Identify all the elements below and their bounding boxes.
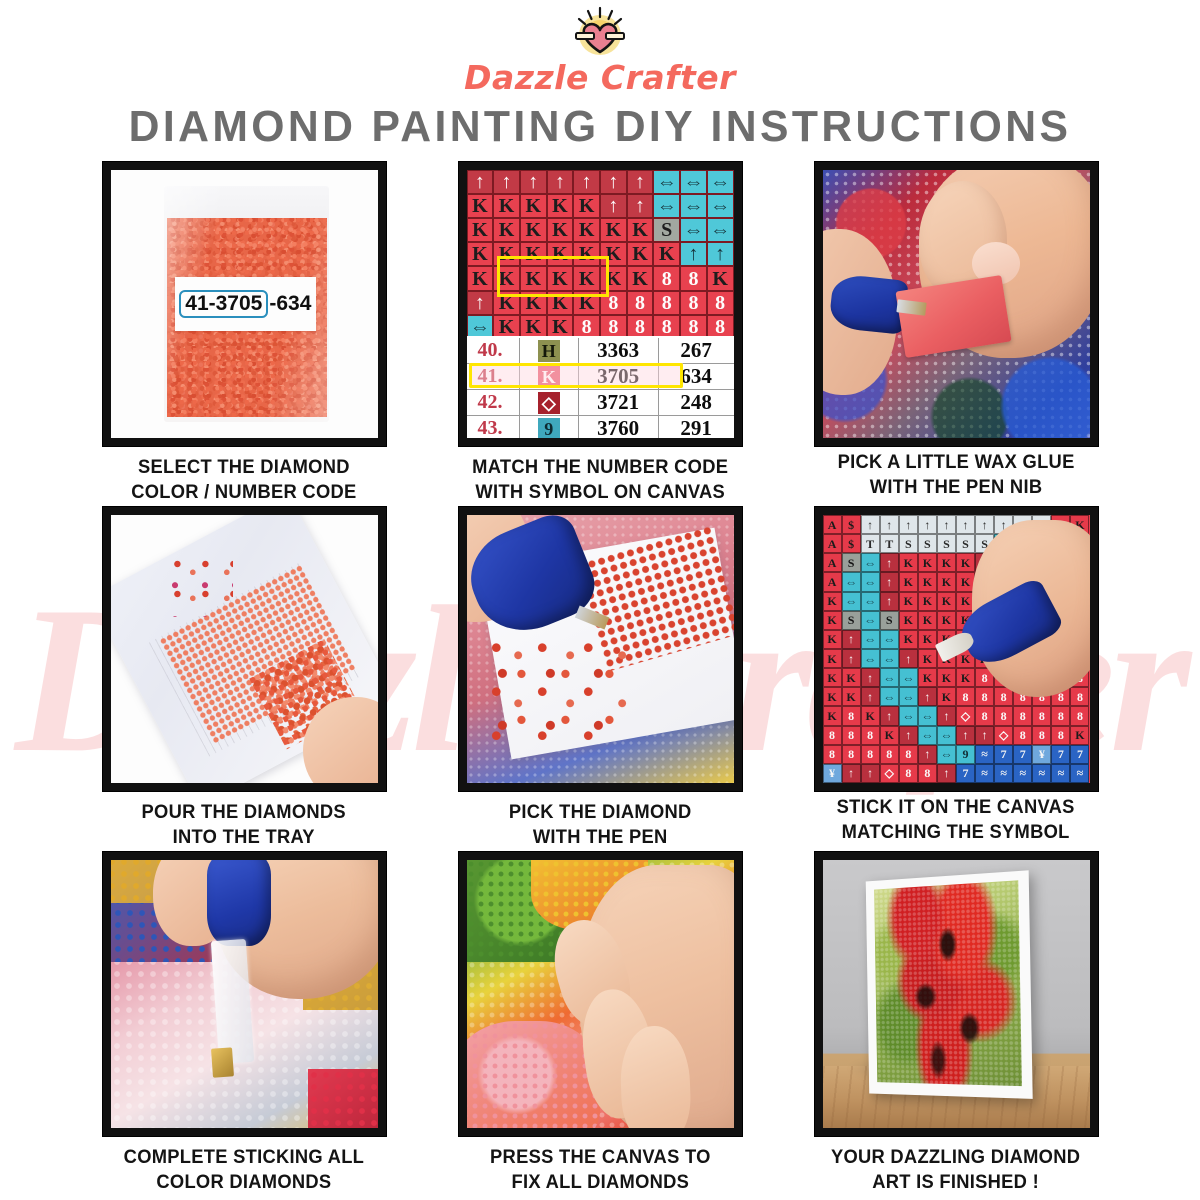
canvas-cell: ⇔ [918,706,937,725]
chart-cell: ↑ [627,170,654,194]
legend-number: 43. [467,416,520,438]
chart-cell: K [573,242,600,266]
legend-number: 42. [467,390,520,415]
chart-cell: K [520,194,547,218]
canvas-cell: 8 [975,687,994,706]
chart-cell: ↑ [520,170,547,194]
canvas-cell: 8 [1032,726,1051,745]
chart-cell: K [493,291,520,315]
canvas-cell: 8 [842,726,861,745]
canvas-cell: K [823,687,842,706]
canvas-cell: ⇔ [880,630,899,649]
canvas-cell: S [880,611,899,630]
step-card-2: ↑↑↑↑↑↑↑⇔⇔⇔KKKKK↑↑⇔⇔⇔KKKKKKKS⇔⇔KKKKKKKK↑↑… [422,162,778,507]
legend-number: 40. [467,338,520,363]
chart-cell: ↑ [600,194,627,218]
legend-symbol: K [538,366,560,388]
canvas-cell: 8 [842,745,861,764]
step-image-frame-4 [103,507,386,791]
canvas-cell: K [937,592,956,611]
canvas-cell: K [842,687,861,706]
canvas-cell: K [918,611,937,630]
chart-cell: ↑ [680,242,707,266]
canvas-cell: ↑ [937,764,956,783]
step-image-frame-6: A$↑↑↑↑↑↑↑↑↑↑KKA$TTSSSSS⇔⇔S⇔SAS⇔↑KKKK↑⇔⇔⇔… [815,507,1098,791]
canvas-cell: K [918,630,937,649]
canvas-cell: ↑ [861,515,880,534]
caption-line-2: COLOR DIAMONDS [124,1170,364,1195]
legend-count: 248 [659,390,734,415]
legend-count: 634 [659,364,734,389]
chart-cell: K [467,242,494,266]
step-card-3: PICK A LITTLE WAX GLUE WITH THE PEN NIB [778,162,1134,507]
step-caption-1: SELECT THE DIAMOND COLOR / NUMBER CODE [131,455,356,505]
legend-row: 41. K 3705 634 [467,364,734,390]
chart-cell: ↑ [573,170,600,194]
legend-symbol-cell: K [520,364,579,389]
chart-cell: K [573,291,600,315]
chart-cell: K [573,218,600,242]
chart-cell: 8 [707,291,734,315]
canvas-cell: ≈ [994,764,1013,783]
caption-line-2: ART IS FINISHED ! [831,1170,1080,1195]
canvas-cell: 8 [956,687,975,706]
step-card-5: PICK THE DIAMOND WITH THE PEN [422,507,778,852]
canvas-cell: K [899,592,918,611]
canvas-cell: K [918,553,937,572]
chart-cell: K [520,266,547,290]
step-image-frame-2: ↑↑↑↑↑↑↑⇔⇔⇔KKKKK↑↑⇔⇔⇔KKKKKKKS⇔⇔KKKKKKKK↑↑… [459,162,742,446]
canvas-cell: ↑ [975,726,994,745]
chart-cell: ↑ [547,170,574,194]
canvas-cell: K [823,630,842,649]
chart-cell: K [627,242,654,266]
canvas-cell: ◇ [994,726,1013,745]
canvas-cell: 8 [899,764,918,783]
step-caption-9: YOUR DAZZLING DIAMOND ART IS FINISHED ! [831,1145,1080,1195]
canvas-cell: A [823,553,842,572]
caption-line-1: COMPLETE STICKING ALL [124,1145,364,1170]
canvas-cell: S [918,534,937,553]
canvas-cell: ¥ [1032,745,1051,764]
canvas-cell: ⇔ [880,687,899,706]
legend-row: 40. H 3363 267 [467,338,734,364]
canvas-cell: ↑ [937,515,956,534]
canvas-cell: K [956,668,975,687]
canvas-cell: ↑ [937,706,956,725]
legend-row: 43. 9 3760 291 [467,416,734,438]
step-caption-7: COMPLETE STICKING ALL COLOR DIAMONDS [124,1145,364,1195]
canvas-cell: K [880,726,899,745]
step-caption-5: PICK THE DIAMOND WITH THE PEN [509,800,692,850]
canvas-cell: ⇔ [937,745,956,764]
chart-cell: ↑ [493,170,520,194]
canvas-cell: K [899,630,918,649]
canvas-cell: 8 [1051,706,1070,725]
legend-row: 42. ◇ 3721 248 [467,390,734,416]
canvas-cell: ⇔ [861,592,880,611]
canvas-cell: ↑ [956,726,975,745]
canvas-cell: K [823,592,842,611]
legend-dmc-code: 3705 [579,364,659,389]
canvas-cell: K [899,611,918,630]
canvas-cell: K [823,668,842,687]
step-card-9: YOUR DAZZLING DIAMOND ART IS FINISHED ! [778,852,1134,1197]
canvas-cell: 8 [861,745,880,764]
canvas-cell: K [918,592,937,611]
chart-cell: K [600,242,627,266]
legend-symbol-cell: 9 [520,416,579,438]
canvas-cell: 7 [1051,745,1070,764]
step-caption-6: STICK IT ON THE CANVAS MATCHING THE SYMB… [837,795,1075,845]
pick-diamond-photo [467,515,734,783]
chart-cell: ⇔ [653,194,680,218]
canvas-cell: ↑ [918,687,937,706]
chart-legend-photo: ↑↑↑↑↑↑↑⇔⇔⇔KKKKK↑↑⇔⇔⇔KKKKKKKS⇔⇔KKKKKKKK↑↑… [467,170,734,438]
step-card-4: POUR THE DIAMONDS INTO THE TRAY [66,507,422,852]
canvas-cell: ≈ [1051,764,1070,783]
canvas-cell: ⇔ [918,726,937,745]
canvas-cell: 8 [994,706,1013,725]
canvas-cell: K [937,668,956,687]
canvas-cell: 8 [1013,706,1032,725]
wax-glue-photo [823,170,1090,438]
canvas-cell: ⇔ [861,611,880,630]
chart-cell: ⇔ [680,170,707,194]
canvas-cell: ↑ [899,649,918,668]
canvas-cell: ⇔ [899,668,918,687]
chart-cell: ⇔ [707,170,734,194]
canvas-cell: ¥ [823,764,842,783]
canvas-cell: 8 [1051,726,1070,745]
canvas-cell: S [842,611,861,630]
canvas-cell: A [823,572,842,591]
canvas-cell: ↑ [880,706,899,725]
canvas-symbol-chart: ↑↑↑↑↑↑↑⇔⇔⇔KKKKK↑↑⇔⇔⇔KKKKKKKS⇔⇔KKKKKKKK↑↑… [467,170,734,339]
canvas-cell: 9 [956,745,975,764]
legend-symbol-cell: H [520,338,579,363]
canvas-cell: ↑ [861,668,880,687]
canvas-cell: ⇔ [861,649,880,668]
canvas-cell: K [1070,726,1089,745]
canvas-cell: 8 [823,726,842,745]
diamond-pen [207,860,271,946]
chart-cell: 8 [680,266,707,290]
step-image-frame-5 [459,507,742,791]
canvas-cell: ↑ [880,553,899,572]
step-caption-3: PICK A LITTLE WAX GLUE WITH THE PEN NIB [837,450,1074,500]
pen-nib [211,1047,234,1078]
step-caption-8: PRESS THE CANVAS TO FIX ALL DIAMONDS [490,1145,711,1195]
step-card-6: A$↑↑↑↑↑↑↑↑↑↑KKA$TTSSSSS⇔⇔S⇔SAS⇔↑KKKK↑⇔⇔⇔… [778,507,1134,852]
canvas-cell: ≈ [1013,764,1032,783]
step-caption-2: MATCH THE NUMBER CODE WITH SYMBOL ON CAN… [472,455,728,505]
press-canvas-photo [467,860,734,1128]
canvas-cell: 8 [1070,706,1089,725]
canvas-cell: ↑ [899,515,918,534]
canvas-cell: ↑ [956,515,975,534]
canvas-cell: T [861,534,880,553]
caption-line-1: SELECT THE DIAMOND [131,455,356,480]
canvas-cell: A [823,515,842,534]
chart-cell: 8 [680,291,707,315]
canvas-cell: ≈ [1070,764,1089,783]
chart-cell: ⇔ [680,218,707,242]
chart-cell: K [493,218,520,242]
canvas-cell: K [899,553,918,572]
canvas-cell: ⇔ [899,687,918,706]
chart-cell: 8 [653,266,680,290]
chart-cell: ↑ [627,194,654,218]
caption-line-1: YOUR DAZZLING DIAMOND [831,1145,1080,1170]
canvas-cell: ↑ [975,515,994,534]
canvas-cell: T [880,534,899,553]
chart-cell: K [573,266,600,290]
legend-dmc-code: 3760 [579,416,659,438]
canvas-cell: S [899,534,918,553]
caption-line-2: WITH SYMBOL ON CANVAS [472,480,728,505]
caption-line-2: COLOR / NUMBER CODE [131,480,356,505]
canvas-cell: K [956,553,975,572]
picture-frame [865,870,1031,1098]
step-image-frame-7 [103,852,386,1136]
step-image-frame-9 [815,852,1098,1136]
canvas-cell: 8 [823,745,842,764]
canvas-cell: 7 [1013,745,1032,764]
finished-framed-art-photo [823,860,1090,1128]
chart-cell: K [520,291,547,315]
color-legend-table: 40. H 3363 267 41. K [467,336,734,438]
legend-dmc-code: 3363 [579,338,659,363]
canvas-cell: S [956,534,975,553]
step-image-frame-3 [815,162,1098,446]
bag-label: 41-3705-634 [175,277,317,331]
canvas-cell: K [937,611,956,630]
canvas-cell: ↑ [918,515,937,534]
caption-line-2: INTO THE TRAY [142,825,346,850]
canvas-cell: ⇔ [937,726,956,745]
pen-closeup-photo [111,860,378,1128]
canvas-cell: 8 [1013,726,1032,745]
step-image-frame-8 [459,852,742,1136]
step-card-8: PRESS THE CANVAS TO FIX ALL DIAMONDS [422,852,778,1197]
instruction-poster: Dazzle Crafter DIAMOND PAINTING DIY INST… [0,0,1200,1200]
canvas-cell: S [842,553,861,572]
canvas-cell: 8 [1032,706,1051,725]
canvas-cell: K [823,706,842,725]
page-title: DIAMOND PAINTING DIY INSTRUCTIONS [18,105,1182,149]
bag-code-tail: -634 [269,292,311,316]
canvas-cell: ◇ [956,706,975,725]
canvas-cell: ⇔ [861,630,880,649]
canvas-cell: K [842,668,861,687]
heart-pen-sunburst-icon [563,4,637,60]
canvas-cell: 8 [1070,687,1089,706]
canvas-cell: $ [842,534,861,553]
chart-cell: K [467,218,494,242]
chart-cell: 8 [600,291,627,315]
legend-symbol-cell: ◇ [520,390,579,415]
legend-dmc-code: 3721 [579,390,659,415]
chart-cell: ↑ [467,291,494,315]
canvas-cell: ◇ [880,764,899,783]
canvas-cell: ≈ [1032,764,1051,783]
caption-line-1: POUR THE DIAMONDS [142,800,346,825]
chart-cell: K [493,266,520,290]
caption-line-1: MATCH THE NUMBER CODE [472,455,728,480]
chart-cell: 8 [653,291,680,315]
legend-count: 291 [659,416,734,438]
canvas-cell: K [937,572,956,591]
canvas-cell: ↑ [861,764,880,783]
canvas-cell: ↑ [880,572,899,591]
legend-symbol: 9 [538,418,560,438]
canvas-cell: ⇔ [861,572,880,591]
canvas-cell: ⇔ [861,553,880,572]
legend-number: 41. [467,364,520,389]
caption-line-1: STICK IT ON THE CANVAS [837,795,1075,820]
canvas-cell: ↑ [861,687,880,706]
canvas-cell: K [861,706,880,725]
chart-cell: K [493,242,520,266]
poppy-diamond-art [874,880,1021,1086]
caption-line-2: WITH THE PEN [509,825,692,850]
canvas-cell: 8 [975,706,994,725]
chart-cell: K [547,218,574,242]
caption-line-1: PRESS THE CANVAS TO [490,1145,711,1170]
canvas-cell: ⇔ [880,649,899,668]
canvas-cell: ≈ [975,764,994,783]
chart-cell: ↑ [600,170,627,194]
chart-cell: S [653,218,680,242]
caption-line-1: PICK A LITTLE WAX GLUE [837,450,1074,475]
chart-cell: K [547,194,574,218]
canvas-cell: 8 [880,745,899,764]
legend-count: 267 [659,338,734,363]
canvas-cell: K [899,572,918,591]
step-card-1: 41-3705-634 SELECT THE DIAMOND COLOR / N… [66,162,422,507]
chart-cell: K [547,266,574,290]
canvas-cell: K [918,572,937,591]
chart-cell: K [600,266,627,290]
chart-cell: K [627,266,654,290]
chart-cell: K [467,266,494,290]
canvas-cell: ↑ [880,515,899,534]
stick-on-canvas-photo: A$↑↑↑↑↑↑↑↑↑↑KKA$TTSSSSS⇔⇔S⇔SAS⇔↑KKKK↑⇔⇔⇔… [823,515,1090,783]
caption-line-2: MATCHING THE SYMBOL [837,820,1075,845]
canvas-cell: ↑ [842,630,861,649]
chart-cell: K [493,194,520,218]
canvas-cell: K [823,649,842,668]
steps-grid: 41-3705-634 SELECT THE DIAMOND COLOR / N… [0,162,1200,1197]
canvas-cell: 8 [918,764,937,783]
step-caption-4: POUR THE DIAMONDS INTO THE TRAY [142,800,346,850]
canvas-cell: 7 [956,764,975,783]
caption-line-2: WITH THE PEN NIB [837,475,1074,500]
chart-cell: K [707,266,734,290]
canvas-cell: ⇔ [899,706,918,725]
canvas-cell: 8 [899,745,918,764]
canvas-cell: 8 [842,706,861,725]
canvas-cell: ⇔ [842,572,861,591]
caption-line-1: PICK THE DIAMOND [509,800,692,825]
chart-cell: K [653,242,680,266]
diamond-tray-photo [111,515,378,783]
canvas-cell: ↑ [918,745,937,764]
canvas-cell: ↑ [899,726,918,745]
canvas-cell: K [823,611,842,630]
canvas-cell: K [937,553,956,572]
canvas-cell: ↑ [880,592,899,611]
chart-cell: ⇔ [680,194,707,218]
chart-cell: ⇔ [653,170,680,194]
step-image-frame-1: 41-3705-634 [103,162,386,446]
chart-cell: K [547,242,574,266]
canvas-cell: 7 [1070,745,1089,764]
canvas-cell: ⇔ [842,592,861,611]
bag-code-boxed: 41-3705 [179,290,268,318]
canvas-cell: ↑ [842,764,861,783]
step-card-7: COMPLETE STICKING ALL COLOR DIAMONDS [66,852,422,1197]
caption-line-2: FIX ALL DIAMONDS [490,1170,711,1195]
chart-cell: K [547,291,574,315]
canvas-cell: ⇔ [880,668,899,687]
legend-symbol: H [538,340,560,362]
chart-cell: K [600,218,627,242]
canvas-cell: 7 [994,745,1013,764]
chart-cell: 8 [627,291,654,315]
brand-header: Dazzle Crafter [0,0,1200,94]
canvas-cell: K [918,668,937,687]
chart-cell: ↑ [707,242,734,266]
chart-cell: K [627,218,654,242]
canvas-cell: K [937,687,956,706]
diamond-bag-photo: 41-3705-634 [111,170,378,438]
chart-cell: ⇔ [707,194,734,218]
chart-cell: K [467,194,494,218]
canvas-cell: A [823,534,842,553]
chart-cell: K [520,218,547,242]
chart-cell: K [520,242,547,266]
canvas-cell: 8 [861,726,880,745]
canvas-cell: ≈ [975,745,994,764]
chart-cell: ⇔ [707,218,734,242]
canvas-cell: ↑ [842,649,861,668]
canvas-cell: K [918,649,937,668]
brand-name: Dazzle Crafter [0,61,1200,94]
chart-cell: ↑ [467,170,494,194]
canvas-cell: S [937,534,956,553]
canvas-cell: $ [842,515,861,534]
legend-symbol: ◇ [538,392,560,414]
chart-cell: K [573,194,600,218]
